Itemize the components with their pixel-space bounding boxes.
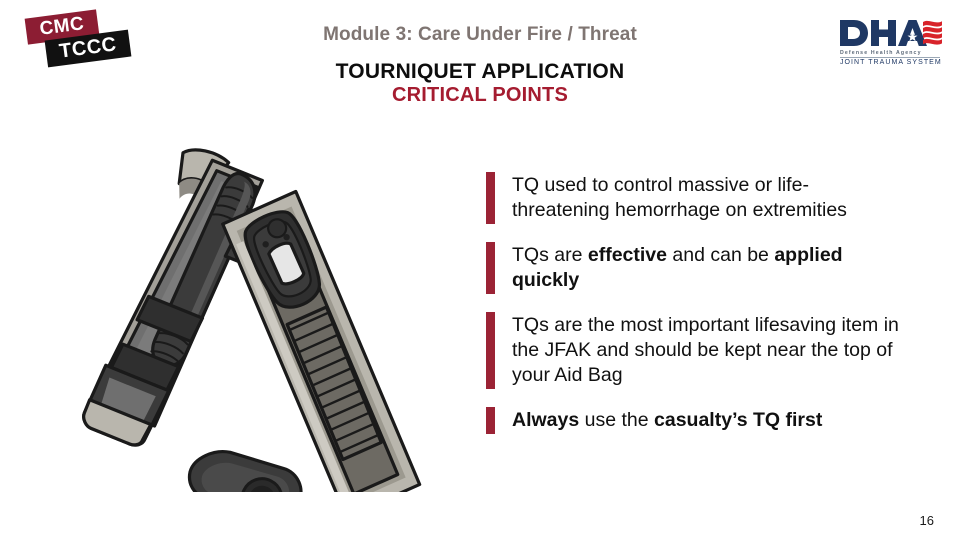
- bullet-effective-quick: TQs are effective and can be applied qui…: [512, 242, 906, 294]
- page-subtitle: CRITICAL POINTS: [0, 84, 960, 107]
- list-item: Always use the casualty’s TQ first: [486, 407, 906, 434]
- bullet-casualty-tq-first: Always use the casualty’s TQ first: [512, 407, 906, 434]
- dha-agency-name: Defense Health Agency: [840, 50, 922, 56]
- dha-logo: Defense Health Agency JOINT TRAUMA SYSTE…: [838, 16, 946, 70]
- dha-wordmark-icon: [838, 16, 946, 50]
- bullet-marker: [486, 242, 495, 294]
- dha-divider: [840, 57, 940, 58]
- bullet-text-run: and can be: [667, 244, 774, 266]
- bullet-text-run: TQs are: [512, 244, 588, 266]
- page-number: 16: [920, 513, 934, 528]
- bullet-text-bold: effective: [588, 244, 667, 266]
- bullet-text-run: use the: [579, 409, 654, 431]
- list-item: TQs are effective and can be applied qui…: [486, 242, 906, 294]
- bullet-marker: [486, 172, 495, 224]
- slide-canvas: CMC TCCC Module 3: Care Under Fire / Thr…: [0, 0, 960, 540]
- tourniquet-illustration: [60, 122, 430, 492]
- bullet-text-run: TQs are the most important lifesaving it…: [512, 314, 899, 386]
- module-subtitle: Module 3: Care Under Fire / Threat: [0, 24, 960, 46]
- critical-points-list: TQ used to control massive or life-threa…: [486, 172, 906, 452]
- bullet-jfak-aid-bag: TQs are the most important lifesaving it…: [512, 312, 906, 389]
- bullet-text-run: TQ used to control massive or life-threa…: [512, 174, 847, 221]
- bullet-text-bold: casualty’s TQ first: [654, 409, 822, 431]
- page-title: TOURNIQUET APPLICATION: [0, 60, 960, 84]
- bullet-control-hemorrhage: TQ used to control massive or life-threa…: [512, 172, 906, 224]
- bullet-text-bold: Always: [512, 409, 579, 431]
- bullet-marker: [486, 312, 495, 389]
- list-item: TQ used to control massive or life-threa…: [486, 172, 906, 224]
- bullet-marker: [486, 407, 495, 434]
- list-item: TQs are the most important lifesaving it…: [486, 312, 906, 389]
- dha-system-name: JOINT TRAUMA SYSTEM: [840, 59, 942, 66]
